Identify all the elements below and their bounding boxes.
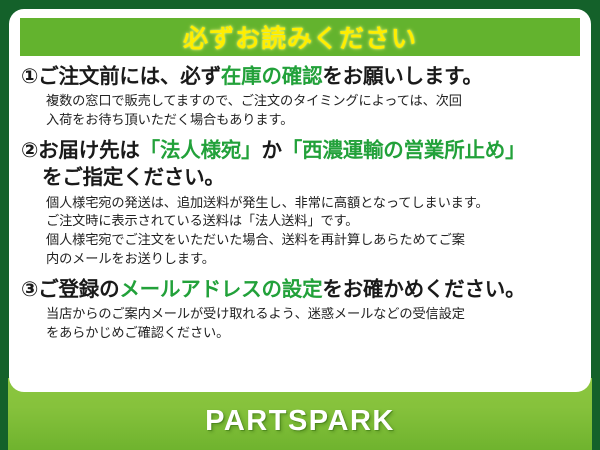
notice-item-2-body-line-1: 個人様宅宛の発送は、追加送料が発生し、非常に高額となってしまいます。 xyxy=(46,194,579,213)
notice-item-3-heading: ③ご登録のメールアドレスの設定をお確かめください。 xyxy=(21,276,579,303)
notice-items-list: ①ご注文前には、必ず在庫の確認をお願いします。 複数の窓口で販売してますので、ご… xyxy=(19,63,581,343)
notice-item-1-heading-part-3: をお願いします。 xyxy=(322,65,482,88)
notice-item-1: ①ご注文前には、必ず在庫の確認をお願いします。 複数の窓口で販売してますので、ご… xyxy=(21,63,579,130)
notice-item-2-heading-highlight-1: 「法人様宛」 xyxy=(140,139,262,162)
notice-item-2-body: 個人様宅宛の発送は、追加送料が発生し、非常に高額となってしまいます。 ご注文時に… xyxy=(21,192,579,270)
notice-item-2-body-line-4: 内のメールをお送りします。 xyxy=(46,250,579,269)
notice-item-3-heading-part-1: ご登録の xyxy=(38,278,119,301)
notice-item-2-heading-part-3: か xyxy=(261,139,281,162)
notice-item-2-body-line-2: ご注文時に表示されている送料は「法人送料」です。 xyxy=(46,212,579,231)
notice-item-3-body-line-2: をあらかじめご確認ください。 xyxy=(46,324,579,343)
notice-panel: 必ずお読みください ①ご注文前には、必ず在庫の確認をお願いします。 複数の窓口で… xyxy=(9,9,591,392)
page-title: 必ずお読みください xyxy=(183,19,417,55)
notice-frame: 必ずお読みください ①ご注文前には、必ず在庫の確認をお願いします。 複数の窓口で… xyxy=(0,0,600,450)
notice-item-2-body-line-3: 個人様宅宛でご注文をいただいた場合、送料を再計算しあらためてご案 xyxy=(46,231,579,250)
footer-brand-area: PARTSPARK xyxy=(0,392,600,450)
notice-item-1-heading-highlight: 在庫の確認 xyxy=(221,65,323,88)
notice-item-1-body-line-1: 複数の窓口で販売してますので、ご注文のタイミングによっては、次回 xyxy=(46,92,579,111)
notice-item-2-heading-highlight-2: 「西濃運輸の営業所止め」 xyxy=(282,139,526,162)
notice-item-1-heading: ①ご注文前には、必ず在庫の確認をお願いします。 xyxy=(21,63,579,90)
notice-item-2-heading: ②お届け先は「法人様宛」か「西濃運輸の営業所止め」をご指定ください。 xyxy=(21,137,579,192)
notice-item-2-heading-part-1: お届け先は xyxy=(38,139,140,162)
notice-item-3: ③ご登録のメールアドレスの設定をお確かめください。 当店からのご案内メールが受け… xyxy=(21,276,579,343)
notice-item-1-body: 複数の窓口で販売してますので、ご注文のタイミングによっては、次回 入荷をお待ち頂… xyxy=(21,90,579,130)
notice-item-3-marker: ③ xyxy=(21,278,38,301)
notice-item-2-heading-line-2: をご指定ください。 xyxy=(21,164,579,191)
notice-item-2: ②お届け先は「法人様宛」か「西濃運輸の営業所止め」をご指定ください。 個人様宅宛… xyxy=(21,137,579,269)
notice-item-1-body-line-2: 入荷をお待ち頂いただく場合もあります。 xyxy=(46,111,579,130)
brand-logo-text: PARTSPARK xyxy=(205,405,395,438)
notice-item-3-heading-part-3: をお確かめください。 xyxy=(322,278,525,301)
notice-item-1-heading-part-1: ご注文前には、必ず xyxy=(38,65,221,88)
notice-title-bar: 必ずお読みください xyxy=(20,18,580,56)
notice-item-3-body: 当店からのご案内メールが受け取れるよう、迷惑メールなどの受信設定 をあらかじめご… xyxy=(21,303,579,343)
notice-item-1-marker: ① xyxy=(21,65,38,88)
notice-item-3-heading-highlight: メールアドレスの設定 xyxy=(119,278,322,301)
notice-item-3-body-line-1: 当店からのご案内メールが受け取れるよう、迷惑メールなどの受信設定 xyxy=(46,305,579,324)
notice-item-2-marker: ② xyxy=(21,139,38,162)
